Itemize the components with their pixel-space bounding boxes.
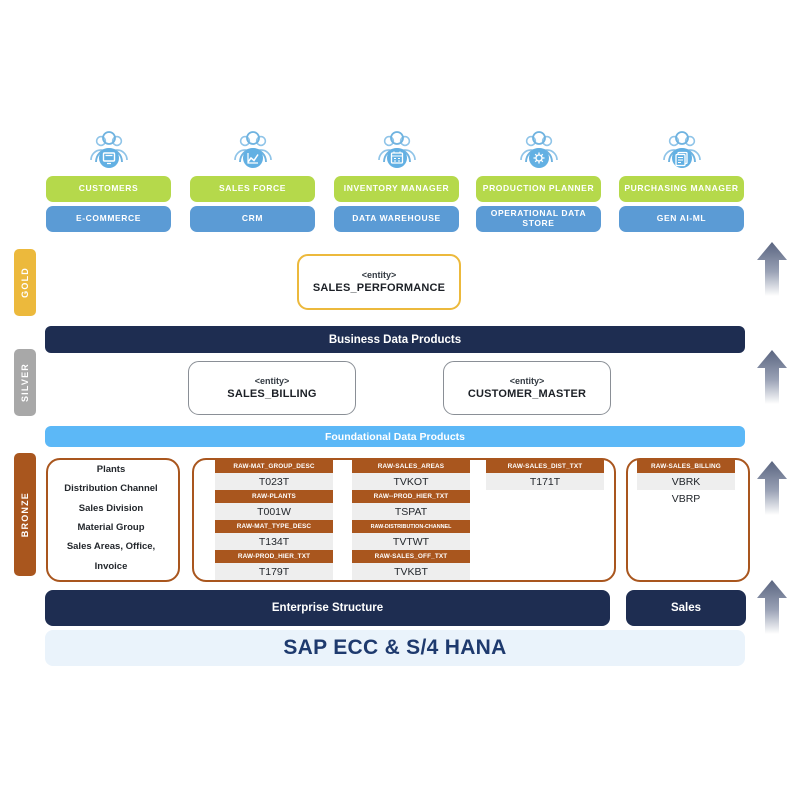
raw-table-label[interactable]: RAW-SALES_AREAS: [352, 460, 470, 473]
persona-system-2[interactable]: DATA WAREHOUSE: [334, 206, 459, 232]
raw-table-label[interactable]: RAW-SALES_DIST_TXT: [486, 460, 604, 473]
bronze-column-a: RAW-MAT_GROUP_DESC T023T RAW-PLANTS T001…: [215, 460, 333, 580]
people-gear-icon: [476, 126, 601, 172]
entity-name: SALES_BILLING: [227, 387, 316, 402]
architecture-diagram: CUSTOMERS E-COMMERCE SALES FORCE CRM: [0, 0, 800, 800]
entity-name: SALES_PERFORMANCE: [313, 281, 445, 296]
people-chart-icon: [190, 126, 315, 172]
footer-enterprise-structure: Enterprise Structure: [45, 590, 610, 626]
bronze-concept: Plants: [97, 460, 126, 479]
raw-table-label[interactable]: RAW-MAT_GROUP_DESC: [215, 460, 333, 473]
persona-column-2: INVENTORY MANAGER DATA WAREHOUSE: [334, 126, 459, 232]
raw-table-name: VBRK: [637, 473, 735, 490]
bronze-concept: Sales Division: [79, 499, 143, 518]
people-calendar-icon: [334, 126, 459, 172]
upward-flow-arrow: [755, 348, 789, 406]
persona-role-4[interactable]: PURCHASING MANAGER: [619, 176, 744, 202]
raw-table-label[interactable]: RAW-SALES_OFF_TXT: [352, 550, 470, 563]
persona-column-0: CUSTOMERS E-COMMERCE: [46, 126, 171, 232]
layer-tab-gold-label: GOLD: [20, 267, 30, 298]
footer-sales: Sales: [626, 590, 746, 626]
raw-table-name: T171T: [486, 473, 604, 490]
banner-business-data-products: Business Data Products: [45, 326, 745, 353]
layer-tab-silver: SILVER: [14, 349, 36, 416]
entity-tag: <entity>: [255, 375, 290, 387]
raw-table-name: TVKBT: [352, 563, 470, 580]
raw-table-label[interactable]: RAW-MAT_TYPE_DESC: [215, 520, 333, 533]
persona-role-2[interactable]: INVENTORY MANAGER: [334, 176, 459, 202]
persona-role-1[interactable]: SALES FORCE: [190, 176, 315, 202]
raw-table-label[interactable]: RAW--PROD_HIER_TXT: [352, 490, 470, 503]
raw-table-name: TVKOT: [352, 473, 470, 490]
upward-flow-arrow: [755, 578, 789, 636]
raw-table-label[interactable]: RAW-PROD_HIER_TXT: [215, 550, 333, 563]
bronze-concepts-list: Plants Distribution Channel Sales Divisi…: [46, 458, 176, 578]
layer-tab-bronze: BRONZE: [14, 453, 36, 576]
bronze-concept: Sales Areas, Office,: [67, 537, 155, 556]
raw-table-name: TVTWT: [352, 533, 470, 550]
people-document-icon: [619, 126, 744, 172]
layer-tab-silver-label: SILVER: [20, 363, 30, 402]
raw-table-name: T023T: [215, 473, 333, 490]
entity-tag: <entity>: [362, 269, 397, 281]
raw-table-label[interactable]: RAW-PLANTS: [215, 490, 333, 503]
bronze-concept: Distribution Channel: [64, 479, 157, 498]
raw-table-name: TSPAT: [352, 503, 470, 520]
persona-role-3[interactable]: PRODUCTION PLANNER: [476, 176, 601, 202]
footer-source-system: SAP ECC & S/4 HANA: [45, 630, 745, 666]
raw-table-name: T134T: [215, 533, 333, 550]
persona-system-3[interactable]: OPERATIONAL DATA STORE: [476, 206, 601, 232]
persona-role-0[interactable]: CUSTOMERS: [46, 176, 171, 202]
persona-column-3: PRODUCTION PLANNER OPERATIONAL DATA STOR…: [476, 126, 601, 232]
upward-flow-arrow: [755, 240, 789, 298]
persona-system-4[interactable]: GEN AI-ML: [619, 206, 744, 232]
persona-column-4: PURCHASING MANAGER GEN AI-ML: [619, 126, 744, 232]
entity-customer-master[interactable]: <entity> CUSTOMER_MASTER: [443, 361, 611, 415]
layer-tab-bronze-label: BRONZE: [20, 492, 30, 537]
layer-tab-gold: GOLD: [14, 249, 36, 316]
bronze-column-c: RAW-SALES_DIST_TXT T171T: [486, 460, 604, 490]
raw-table-name: T001W: [215, 503, 333, 520]
upward-flow-arrow: [755, 459, 789, 517]
persona-column-1: SALES FORCE CRM: [190, 126, 315, 232]
persona-system-1[interactable]: CRM: [190, 206, 315, 232]
people-cart-icon: [46, 126, 171, 172]
entity-sales-billing[interactable]: <entity> SALES_BILLING: [188, 361, 356, 415]
persona-system-0[interactable]: E-COMMERCE: [46, 206, 171, 232]
bronze-column-b: RAW-SALES_AREAS TVKOT RAW--PROD_HIER_TXT…: [352, 460, 470, 580]
entity-name: CUSTOMER_MASTER: [468, 387, 586, 402]
entity-tag: <entity>: [510, 375, 545, 387]
raw-table-label[interactable]: RAW-DISTRIBUTION-CHANNEL: [352, 520, 470, 533]
raw-table-name: T179T: [215, 563, 333, 580]
bronze-concept: Invoice: [95, 557, 128, 576]
banner-foundational-data-products: Foundational Data Products: [45, 426, 745, 447]
entity-sales-performance[interactable]: <entity> SALES_PERFORMANCE: [297, 254, 461, 310]
raw-table-name: VBRP: [637, 490, 735, 507]
raw-table-label[interactable]: RAW-SALES_BILLING: [637, 460, 735, 473]
bronze-column-d: RAW-SALES_BILLING VBRK VBRP: [637, 460, 735, 507]
bronze-concept: Material Group: [77, 518, 144, 537]
